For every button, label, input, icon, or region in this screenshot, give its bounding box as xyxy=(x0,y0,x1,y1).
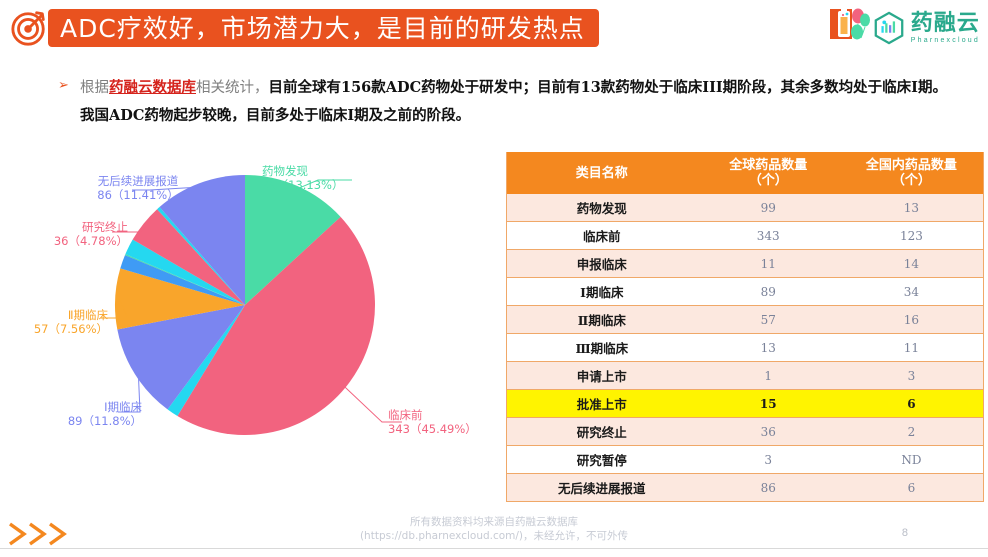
balloons-icon xyxy=(830,5,870,51)
cell-category: 研究终止 xyxy=(507,418,697,446)
cell-domestic-count: 6 xyxy=(840,390,984,418)
cell-global-count: 1 xyxy=(697,362,840,390)
table-header-global: 全球药品数量（个） xyxy=(697,152,840,194)
table-row: 研究终止362 xyxy=(507,418,984,446)
cell-category: 申请上市 xyxy=(507,362,697,390)
table-row: Ⅰ期临床8934 xyxy=(507,278,984,306)
cell-category: 研究暂停 xyxy=(507,446,697,474)
footer-note: 所有数据资料均来源自药融云数据库 (https://db.pharnexclou… xyxy=(0,515,988,543)
page-title: ADC疗效好，市场潜力大，是目前的研发热点 xyxy=(60,16,585,41)
adc-stats-table: 类目名称 全球药品数量（个） 全国内药品数量（个） 药物发现9913临床前343… xyxy=(506,152,984,502)
hexagon-logo-icon xyxy=(872,11,906,45)
cell-category: 批准上市 xyxy=(507,390,697,418)
cell-domestic-count: 14 xyxy=(840,250,984,278)
pie-label-no-update: 无后续进展报道 86（11.41%） xyxy=(68,174,208,202)
cell-global-count: 15 xyxy=(697,390,840,418)
cell-category: 无后续进展报道 xyxy=(507,474,697,502)
table-row: 研究暂停3ND xyxy=(507,446,984,474)
pie-chart: 药物发现 99（13.13%） 临床前 343（45.49%） Ⅰ期临床 89（… xyxy=(0,150,500,490)
footer-divider xyxy=(0,548,988,549)
brand-name-cn: 药融云 xyxy=(911,13,980,35)
table-row: 申报临床1114 xyxy=(507,250,984,278)
cell-domestic-count: 16 xyxy=(840,306,984,334)
table-row: Ⅲ期临床1311 xyxy=(507,334,984,362)
bullet-seg-1: 根据 xyxy=(80,80,109,96)
cell-category: 药物发现 xyxy=(507,194,697,222)
cell-global-count: 86 xyxy=(697,474,840,502)
bullet-db-highlight: 药融云数据库 xyxy=(109,79,196,96)
cell-global-count: 11 xyxy=(697,250,840,278)
cell-domestic-count: 11 xyxy=(840,334,984,362)
table-row: 无后续进展报道866 xyxy=(507,474,984,502)
pie-label-terminated: 研究终止 36（4.78%） xyxy=(28,220,128,248)
cell-global-count: 13 xyxy=(697,334,840,362)
cell-global-count: 89 xyxy=(697,278,840,306)
table-header-row: 类目名称 全球药品数量（个） 全国内药品数量（个） xyxy=(507,152,984,194)
cell-domestic-count: 6 xyxy=(840,474,984,502)
bullet-paragraph: ➢ 根据药融云数据库相关统计，目前全球有156款ADC药物处于研发中；目前有13… xyxy=(58,74,948,129)
cell-global-count: 57 xyxy=(697,306,840,334)
bullet-text: 根据药融云数据库相关统计，目前全球有156款ADC药物处于研发中；目前有13款药… xyxy=(80,74,948,129)
cell-category: Ⅱ期临床 xyxy=(507,306,697,334)
target-icon xyxy=(10,9,48,47)
cell-domestic-count: 2 xyxy=(840,418,984,446)
cell-domestic-count: 34 xyxy=(840,278,984,306)
table-row: 临床前343123 xyxy=(507,222,984,250)
cell-category: Ⅲ期临床 xyxy=(507,334,697,362)
data-table-container: 类目名称 全球药品数量（个） 全国内药品数量（个） 药物发现9913临床前343… xyxy=(506,152,984,502)
footer-line-1: 所有数据资料均来源自药融云数据库 xyxy=(0,515,988,529)
pie-label-phase2: Ⅱ期临床 57（7.56%） xyxy=(8,308,108,336)
cell-category: 临床前 xyxy=(507,222,697,250)
table-row: 申请上市13 xyxy=(507,362,984,390)
table-body: 药物发现9913临床前343123申报临床1114Ⅰ期临床8934Ⅱ期临床571… xyxy=(507,194,984,502)
footer-line-2: (https://db.pharnexcloud.com/)，未经允许，不可外传 xyxy=(0,529,988,543)
cell-global-count: 99 xyxy=(697,194,840,222)
pie-label-preclinical: 临床前 343（45.49%） xyxy=(388,408,477,436)
cell-global-count: 3 xyxy=(697,446,840,474)
table-header-category: 类目名称 xyxy=(507,152,697,194)
bullet-seg-3: 相关统计， xyxy=(196,80,269,96)
slide-header: ADC疗效好，市场潜力大，是目前的研发热点 药融云 Pharnexcl xyxy=(0,0,988,56)
cell-domestic-count: ND xyxy=(840,446,984,474)
cell-global-count: 343 xyxy=(697,222,840,250)
cell-category: Ⅰ期临床 xyxy=(507,278,697,306)
table-row: 药物发现9913 xyxy=(507,194,984,222)
cell-global-count: 36 xyxy=(697,418,840,446)
cell-category: 申报临床 xyxy=(507,250,697,278)
pie-slices xyxy=(115,175,375,435)
pie-label-phase1: Ⅰ期临床 89（11.8%） xyxy=(42,400,142,428)
bullet-arrow-icon: ➢ xyxy=(58,77,69,93)
brand-name-en: Pharnexcloud xyxy=(911,37,980,44)
slide-title-bar: ADC疗效好，市场潜力大，是目前的研发热点 xyxy=(48,9,599,47)
table-row: Ⅱ期临床5716 xyxy=(507,306,984,334)
table-header-domestic: 全国内药品数量（个） xyxy=(840,152,984,194)
brand-logo: 药融云 Pharnexcloud xyxy=(830,4,980,52)
table-row: 批准上市156 xyxy=(507,390,984,418)
cell-domestic-count: 3 xyxy=(840,362,984,390)
cell-domestic-count: 13 xyxy=(840,194,984,222)
pie-label-drug-discovery: 药物发现 99（13.13%） xyxy=(262,164,343,192)
page-number: 8 xyxy=(902,527,908,539)
cell-domestic-count: 123 xyxy=(840,222,984,250)
